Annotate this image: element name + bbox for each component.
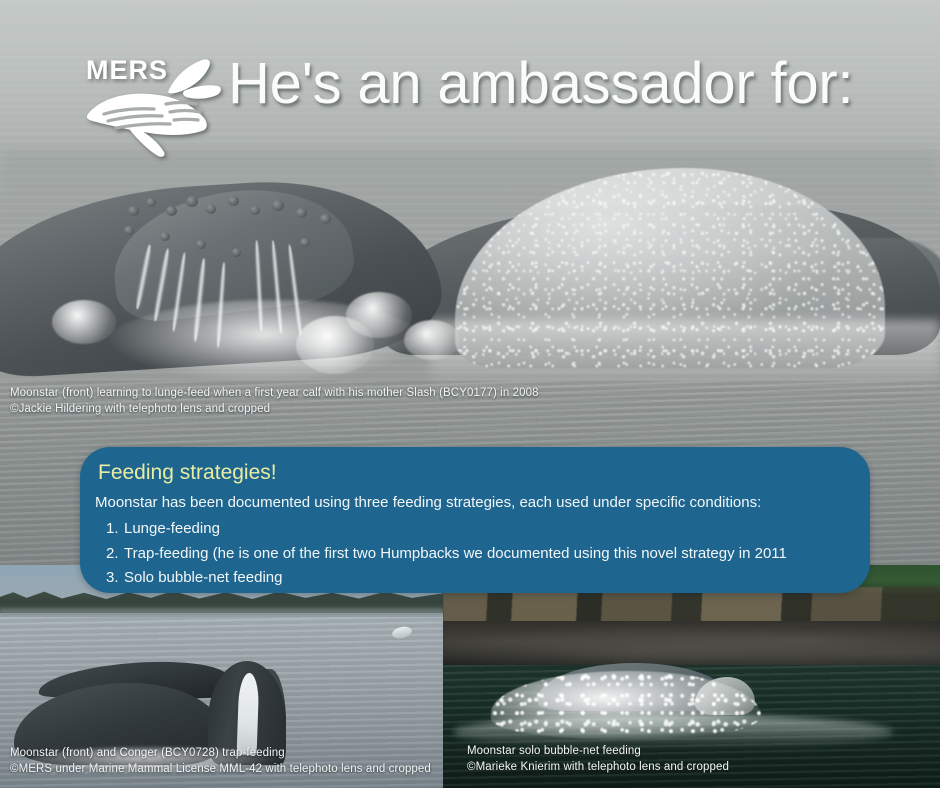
- list-item: 3. Solo bubble-net feeding: [98, 566, 844, 591]
- panel-heading: Feeding strategies!: [98, 460, 844, 486]
- foam-blob: [404, 320, 460, 360]
- list-item-label: Trap-feeding (he is one of the first two…: [124, 545, 787, 562]
- list-item-number: 2.: [106, 542, 119, 567]
- tubercle-icon: [228, 196, 239, 206]
- spreading-foam: [453, 715, 893, 749]
- surface-splash: [30, 747, 280, 773]
- tubercle-icon: [146, 198, 156, 207]
- tubercle-icon: [196, 240, 206, 249]
- page-title: He's an ambassador for:: [228, 54, 853, 115]
- tubercle-icon: [186, 196, 198, 207]
- feeding-strategies-list: 1. Lunge-feeding 2. Trap-feeding (he is …: [98, 517, 844, 591]
- list-item-label: Lunge-feeding: [124, 520, 220, 537]
- tubercle-icon: [300, 238, 310, 247]
- foam-blob: [52, 300, 116, 344]
- list-item-number: 3.: [106, 566, 119, 591]
- list-item-number: 1.: [106, 517, 119, 542]
- tubercle-icon: [160, 232, 170, 241]
- poster-canvas: MERS He's an ambassador: [0, 0, 940, 788]
- panel-intro-text: Moonstar has been documented using three…: [95, 493, 844, 513]
- feeding-strategies-panel: Feeding strategies! Moonstar has been do…: [80, 447, 870, 593]
- tubercle-icon: [250, 206, 260, 215]
- tubercle-icon: [128, 206, 139, 216]
- tubercle-icon: [232, 248, 241, 257]
- list-item: 1. Lunge-feeding: [98, 517, 844, 542]
- bubble-net-photo: [443, 565, 940, 788]
- tubercle-icon: [320, 214, 331, 224]
- tubercle-icon: [206, 204, 216, 214]
- foam-blob: [346, 292, 412, 338]
- mers-logo[interactable]: MERS: [82, 52, 222, 164]
- list-item: 2. Trap-feeding (he is one of the first …: [98, 542, 844, 567]
- tubercle-icon: [272, 200, 284, 211]
- baleen-plate: [237, 673, 260, 756]
- tubercle-icon: [166, 206, 177, 216]
- svg-text:MERS: MERS: [86, 55, 168, 85]
- list-item-label: Solo bubble-net feeding: [124, 569, 282, 586]
- tubercle-icon: [296, 208, 307, 218]
- tubercle-icon: [124, 226, 134, 235]
- trap-feeding-photo: [0, 565, 443, 788]
